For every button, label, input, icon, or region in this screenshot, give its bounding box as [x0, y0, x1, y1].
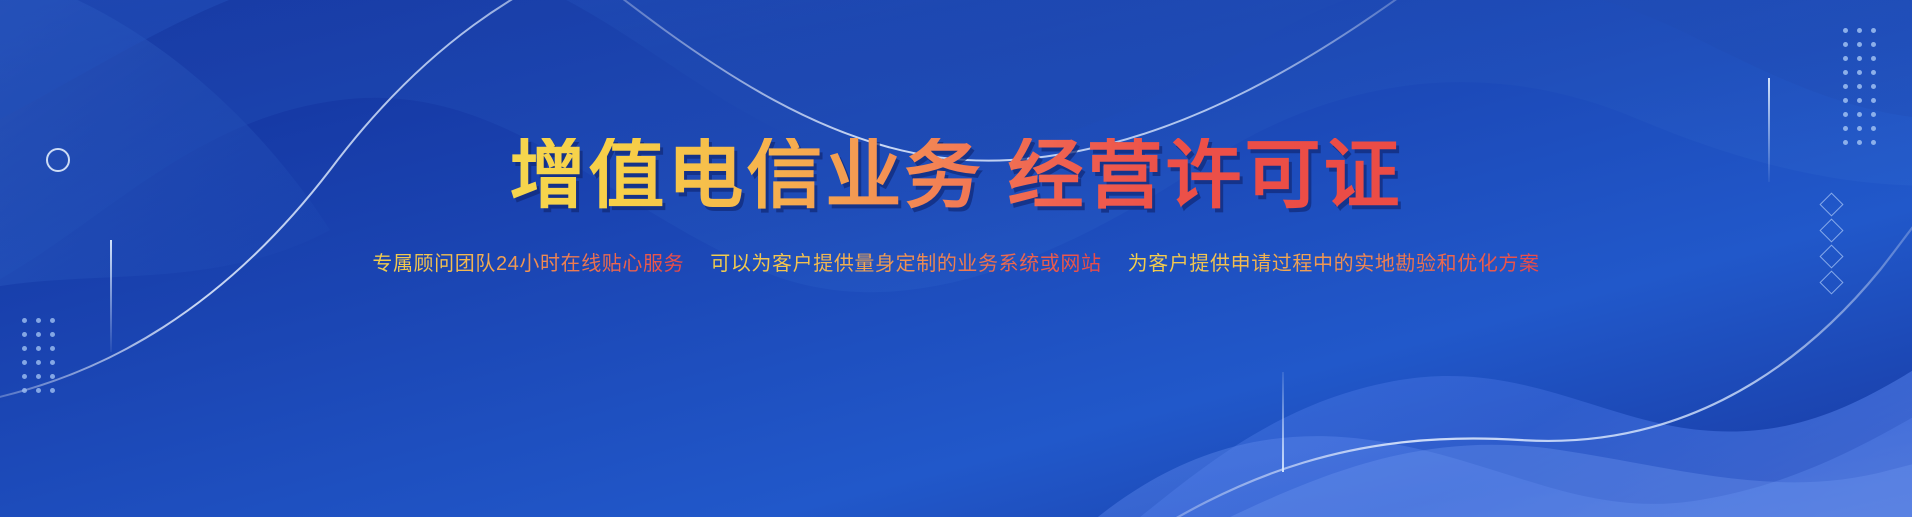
subtitle-segment-2: 可以为客户提供量身定制的业务系统或网站: [710, 252, 1101, 276]
promo-banner: 增值电信业务 经营许可证 专属顾问团队24小时在线贴心服务 可以为客户提供量身定…: [0, 0, 1912, 517]
banner-title: 增值电信业务 经营许可证: [509, 138, 1402, 214]
banner-subtitle: 专属顾问团队24小时在线贴心服务 可以为客户提供量身定制的业务系统或网站 为客户…: [372, 252, 1539, 276]
banner-content: 增值电信业务 经营许可证 专属顾问团队24小时在线贴心服务 可以为客户提供量身定…: [0, 0, 1912, 517]
subtitle-segment-1: 专属顾问团队24小时在线贴心服务: [372, 252, 684, 276]
subtitle-segment-3: 为客户提供申请过程中的实地勘验和优化方案: [1128, 252, 1540, 276]
